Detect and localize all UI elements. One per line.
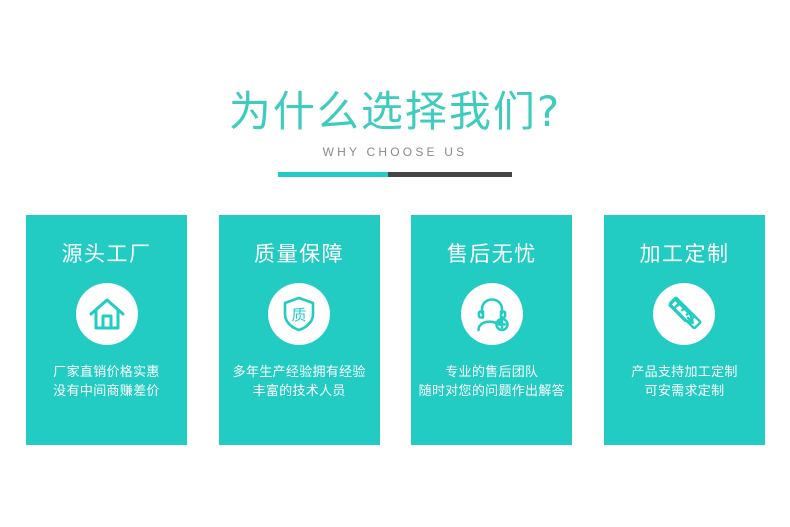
feature-card-source-factory[interactable]: 源头工厂 厂家直销价格实惠 没有中间商赚差价 bbox=[26, 215, 187, 445]
icon-badge bbox=[461, 283, 523, 345]
promo-banner: 为什么选择我们? WHY CHOOSE US 源头工厂 厂家直销价格实惠 没有中… bbox=[0, 0, 790, 527]
divider-dark-segment bbox=[388, 172, 513, 177]
feature-card-quality-guarantee[interactable]: 质量保障 质 多年生产经验拥有经验 丰富的技术人员 bbox=[219, 215, 380, 445]
page-subtitle: WHY CHOOSE US bbox=[0, 144, 790, 160]
page-title: 为什么选择我们? bbox=[0, 86, 790, 138]
feature-card-after-sales[interactable]: 售后无忧 专业的售后团队 随时对您的问题作出解答 bbox=[411, 215, 572, 445]
card-description: 厂家直销价格实惠 没有中间商赚差价 bbox=[49, 363, 163, 401]
feature-card-list: 源头工厂 厂家直销价格实惠 没有中间商赚差价 质量保障 bbox=[26, 215, 765, 445]
card-description: 多年生产经验拥有经验 丰富的技术人员 bbox=[229, 363, 370, 401]
card-title: 源头工厂 bbox=[62, 241, 152, 267]
card-description: 专业的售后团队 随时对您的问题作出解答 bbox=[415, 363, 569, 401]
divider-teal-segment bbox=[278, 172, 388, 177]
card-description: 产品支持加工定制 可安需求定制 bbox=[627, 363, 741, 401]
house-icon bbox=[87, 294, 127, 334]
shield-quality-icon: 质 bbox=[279, 294, 319, 334]
shield-icon-char: 质 bbox=[292, 306, 307, 324]
icon-badge: 质 bbox=[268, 283, 330, 345]
card-title: 售后无忧 bbox=[447, 241, 537, 267]
icon-badge bbox=[653, 283, 715, 345]
feature-card-custom-processing[interactable]: 加工定制 bbox=[604, 215, 765, 445]
card-title: 加工定制 bbox=[639, 241, 729, 267]
headset-support-icon bbox=[472, 294, 512, 334]
card-title: 质量保障 bbox=[254, 241, 344, 267]
ruler-pencil-icon bbox=[664, 294, 704, 334]
section-header: 为什么选择我们? WHY CHOOSE US bbox=[0, 86, 790, 177]
icon-badge bbox=[76, 283, 138, 345]
title-divider bbox=[278, 172, 513, 177]
